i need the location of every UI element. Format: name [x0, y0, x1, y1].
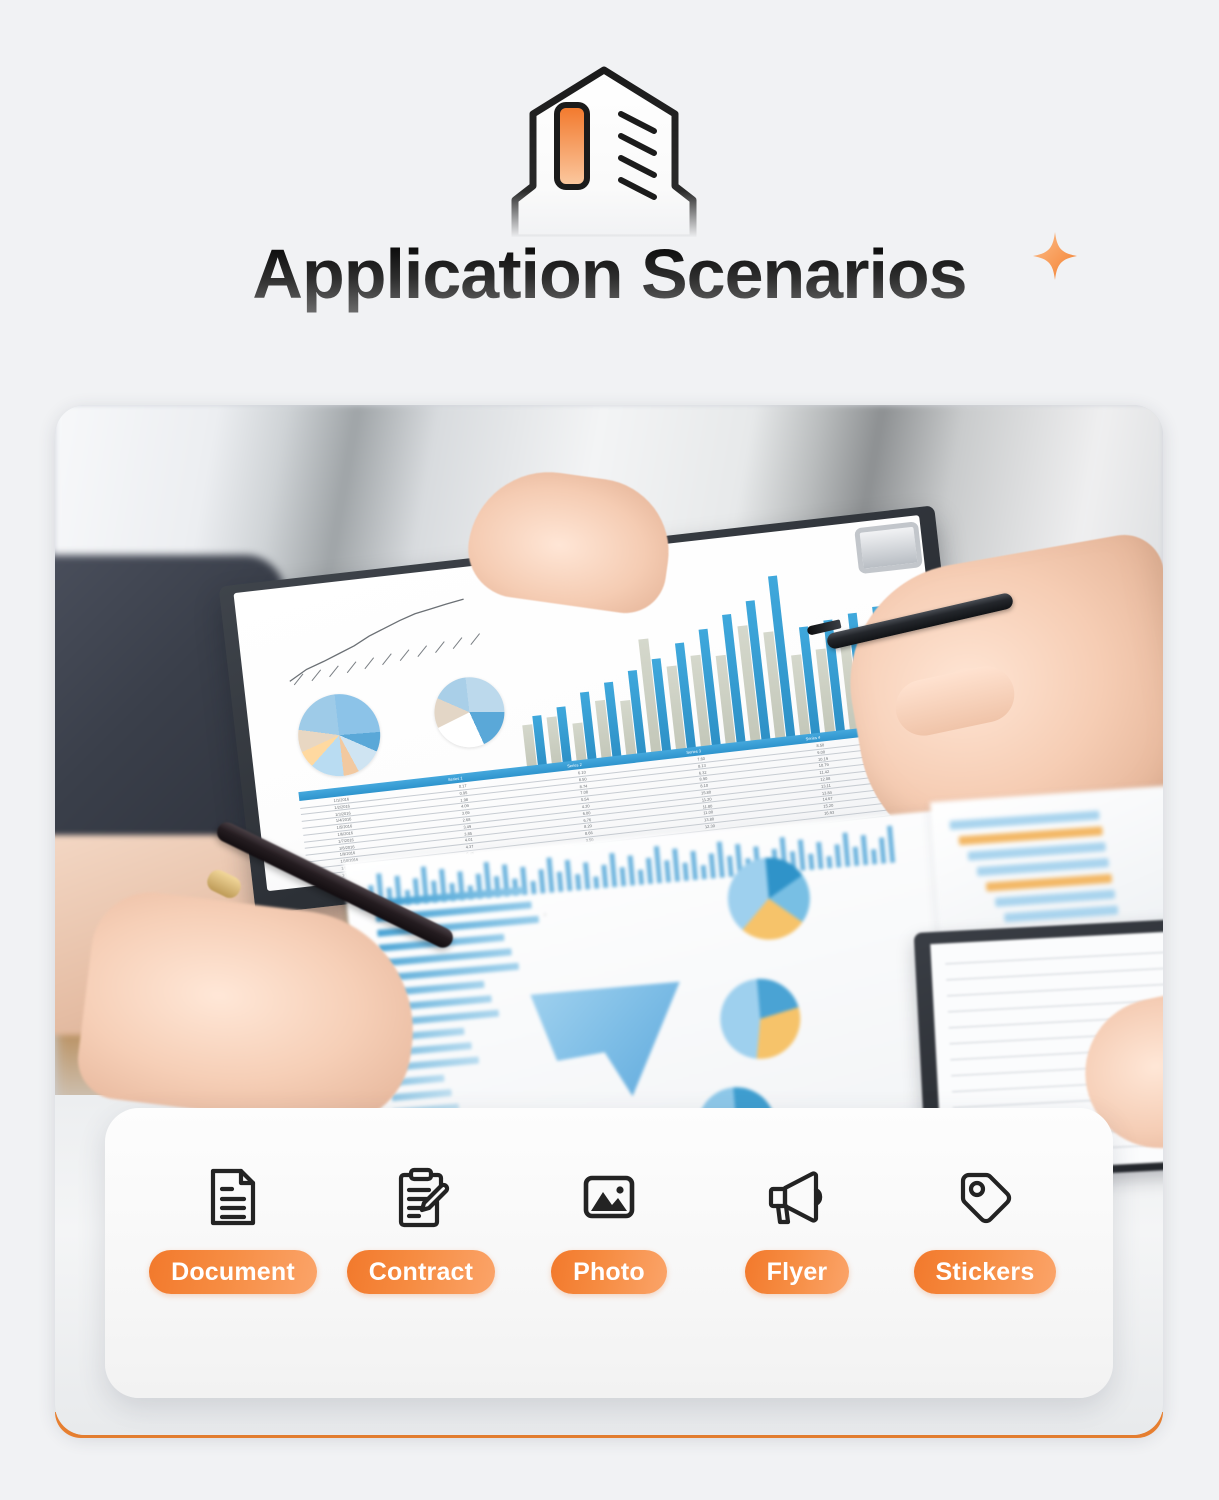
tiny-bar: [879, 837, 886, 863]
page-title: Application Scenarios: [252, 236, 966, 313]
table-cell-date: 1/9/2016: [339, 850, 355, 857]
desk-stripe: [968, 842, 1106, 861]
clipboard-pen-icon: [384, 1160, 458, 1234]
tiny-bar: [808, 854, 814, 870]
tiny-bar: [798, 839, 806, 870]
feature-label-photo[interactable]: Photo: [551, 1250, 667, 1294]
feature-item-flyer[interactable]: Flyer: [707, 1160, 887, 1294]
tiny-bar: [853, 847, 860, 866]
tiny-bar: [871, 849, 877, 864]
desk-pie-2: [717, 975, 804, 1062]
table-cell-value: 1.98: [460, 797, 468, 803]
table-cell-value: 8.50: [578, 776, 586, 782]
feature-item-stickers[interactable]: Stickers: [895, 1160, 1075, 1294]
scenario-feature-card: Document Contract Photo: [105, 1108, 1113, 1398]
table-cell-value: 2.68: [462, 817, 470, 823]
table-cell-value: 11.20: [702, 796, 712, 802]
price-tag-icon: [948, 1160, 1022, 1234]
table-cell-value: 0.95: [459, 790, 467, 796]
table-cell-value: 8.20: [584, 824, 592, 830]
table-cell-value: 8.13: [698, 763, 706, 769]
table-cell-value: 8.74: [579, 783, 587, 789]
table-cell-value: 3.85: [464, 830, 472, 836]
feature-label-contract[interactable]: Contract: [347, 1250, 495, 1294]
table-cell-value: 6.76: [583, 817, 591, 823]
table-cell-value: 6.00: [582, 810, 590, 816]
table-cell-value: 10.19: [818, 756, 829, 762]
image-picture-icon: [572, 1160, 646, 1234]
table-cell-value: 5.54: [581, 796, 589, 802]
table-cell-value: 9.00: [817, 749, 825, 755]
table-column-header: Series 4: [805, 735, 820, 742]
feature-label-document[interactable]: Document: [149, 1250, 317, 1294]
table-cell-date: 1/8/2016: [339, 844, 355, 851]
feature-label-flyer[interactable]: Flyer: [745, 1250, 850, 1294]
report-pie-chart-2: [431, 673, 508, 750]
table-cell-value: 0.17: [458, 783, 466, 789]
feature-item-contract[interactable]: Contract: [331, 1160, 511, 1294]
table-cell-value: 11.42: [819, 769, 829, 775]
tiny-bar: [682, 863, 689, 881]
report-pie-chart-1: [294, 690, 385, 781]
table-column-header: Series 2: [567, 762, 582, 769]
table-cell-value: 4.20: [582, 803, 590, 809]
page-header: Application Scenarios: [0, 0, 1219, 380]
tiny-bar: [538, 869, 545, 893]
desk-hbar: [391, 1089, 451, 1101]
building-tower-icon: [497, 62, 712, 237]
desk-stripe: [1004, 905, 1118, 922]
desk-stripe: [959, 826, 1103, 845]
table-column-header: Series 3: [686, 748, 701, 755]
desk-stripe: [995, 890, 1115, 907]
feature-label-stickers[interactable]: Stickers: [914, 1250, 1057, 1294]
tiny-bar: [887, 826, 895, 863]
table-cell-date: 1/5/2016: [336, 823, 352, 830]
table-cell-value: 3.69: [462, 810, 470, 816]
table-cell-value: 10.79: [818, 762, 829, 768]
table-cell-value: 12.08: [820, 776, 831, 782]
clipboard-br-line: [947, 983, 1163, 997]
table-cell-value: 8.10: [700, 783, 708, 789]
table-column-header: Series 1: [448, 775, 463, 782]
tiny-bar: [546, 857, 554, 892]
feature-item-document[interactable]: Document: [143, 1160, 323, 1294]
tiny-bar: [672, 848, 680, 881]
tiny-bar: [842, 833, 850, 867]
desk-stripe: [986, 874, 1112, 892]
table-cell-date: 1/4/2016: [336, 817, 352, 824]
table-cell-value: 15.20: [823, 803, 834, 809]
clipboard-br-line: [946, 967, 1163, 981]
table-cell-value: 7.60: [697, 756, 705, 762]
table-cell-value: 6.10: [578, 769, 586, 775]
table-cell-value: 6.32: [698, 769, 706, 775]
table-cell-value: 7.08: [580, 790, 588, 796]
table-cell-value: 16.93: [824, 810, 835, 816]
tiny-bar: [709, 853, 716, 878]
table-cell-value: 4.09: [461, 803, 469, 809]
funnel-chart: [530, 982, 689, 1105]
desk-stripe: [977, 858, 1109, 876]
table-cell-date: 1/1/2016: [333, 796, 349, 803]
table-cell-value: 15.80: [701, 789, 712, 795]
table-cell-value: 8.90: [699, 776, 707, 782]
table-cell-value: 8.66: [585, 830, 593, 836]
table-cell-value: 8.50: [816, 742, 824, 748]
table-cell-date: 1/2/2016: [334, 803, 350, 810]
table-cell-value: 4.01: [465, 837, 473, 843]
tiny-bar: [717, 842, 725, 878]
sparkle-star-icon: [1033, 232, 1077, 280]
tiny-bar: [530, 881, 536, 894]
clipboard-clip-top: [854, 521, 923, 574]
table-cell-date: 1/6/2016: [337, 830, 353, 837]
tiny-bar: [861, 835, 869, 865]
tiny-bar: [834, 844, 841, 867]
table-cell-value: 11.80: [702, 803, 712, 809]
tiny-bar: [816, 842, 823, 869]
document-page-icon: [196, 1160, 270, 1234]
feature-item-photo[interactable]: Photo: [519, 1160, 699, 1294]
megaphone-icon: [760, 1160, 834, 1234]
table-cell-value: 4.37: [465, 844, 473, 850]
table-cell-date: 1/3/2016: [335, 810, 351, 817]
table-cell-value: 12.30: [705, 823, 716, 829]
tiny-bar: [826, 856, 832, 868]
tiny-bar: [727, 856, 734, 877]
table-cell-value: 3.49: [463, 824, 471, 830]
report-line-chart: [278, 584, 516, 690]
table-cell-value: 14.67: [822, 796, 833, 802]
clipboard-br-line: [945, 951, 1163, 965]
table-cell-value: 13.11: [821, 783, 831, 789]
tiny-bar: [701, 865, 707, 879]
tiny-bar: [690, 851, 698, 880]
table-cell-value: 11.00: [703, 810, 713, 816]
table-cell-date: 1/7/2016: [338, 837, 354, 844]
table-cell-value: 13.84: [822, 789, 833, 795]
table-cell-value: 13.80: [704, 816, 715, 822]
